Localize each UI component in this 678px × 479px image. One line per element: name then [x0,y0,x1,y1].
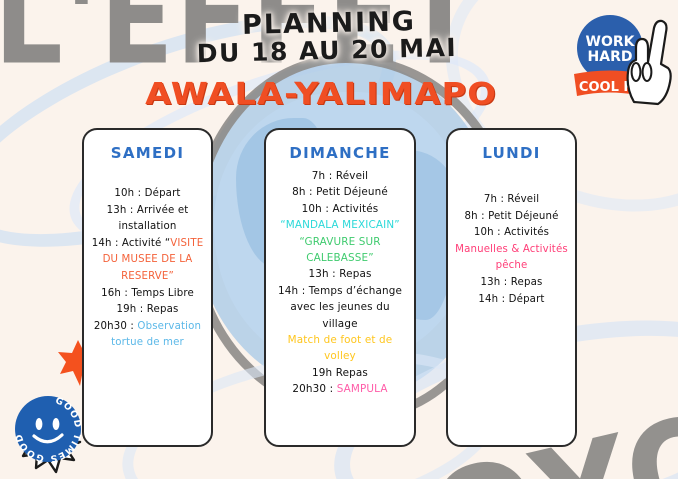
day-card-dimanche[interactable]: DIMANCHE 7h : Réveil 8h : Petit Déjeuné … [264,128,416,447]
schedule-line: tortue de mer [90,335,205,352]
schedule-line: 19h : Repas [90,302,205,319]
work-hard-line1: WORK [586,34,636,50]
schedule-line: 8h : Petit Déjeuné [272,184,408,200]
schedule-line: 16h : Temps Libre [90,286,205,303]
schedule-line: 19h Repas [272,365,408,381]
schedule-line: volley [272,348,408,364]
schedule-line: 14h : Activité “VISITE [90,236,205,253]
work-hard-cool-kid-sticker: WORK HARD COOL KID [566,6,674,110]
schedule-line: avec les jeunes du [272,299,408,315]
work-hard-line2: HARD [588,49,633,65]
schedule-line: DU MUSEE DE LA [90,252,205,269]
schedule-line: 10h : Activités [272,201,408,217]
schedule-line: 13h : Arrivée et [90,203,205,220]
day-title-lundi: LUNDI [454,144,569,162]
day-card-lundi[interactable]: LUNDI 7h : Réveil 8h : Petit Déjeuné 10h… [446,128,577,447]
schedule-line: pêche [454,258,569,275]
schedule-line: installation [90,219,205,236]
day-title-samedi: SAMEDI [90,144,205,162]
schedule-line: CALEBASSE” [272,250,408,266]
schedule-line: Match de foot et de [272,332,408,348]
schedule-line: Manuelles & Activités [454,242,569,259]
schedule-line: 7h : Réveil [454,192,569,209]
schedule-line: 14h : Départ [454,292,569,309]
schedule-line: “GRAVURE SUR [272,234,408,250]
schedule-line: 10h : Activités [454,225,569,242]
schedule-line: 20h30 : SAMPULA [272,381,408,397]
schedule-line: 10h : Départ [90,186,205,203]
schedule-list-dimanche: 7h : Réveil 8h : Petit Déjeuné 10h : Act… [272,168,408,398]
schedule-list-lundi: 7h : Réveil 8h : Petit Déjeuné 10h : Act… [454,192,569,308]
schedule-line: 8h : Petit Déjeuné [454,209,569,226]
schedule-line: 13h : Repas [454,275,569,292]
schedule-line: 13h : Repas [272,266,408,282]
schedule-line: RESERVE” [90,269,205,286]
schedule-line: 14h : Temps d’échange [272,283,408,299]
day-title-dimanche: DIMANCHE [272,144,408,162]
day-card-samedi[interactable]: SAMEDI 10h : Départ 13h : Arrivée et ins… [82,128,213,447]
schedule-line: “MANDALA MEXICAIN” [272,217,408,233]
schedule-line: 7h : Réveil [272,168,408,184]
schedule-line: 20h30 : Observation [90,319,205,336]
schedule-list-samedi: 10h : Départ 13h : Arrivée et installati… [90,186,205,352]
schedule-line: village [272,316,408,332]
